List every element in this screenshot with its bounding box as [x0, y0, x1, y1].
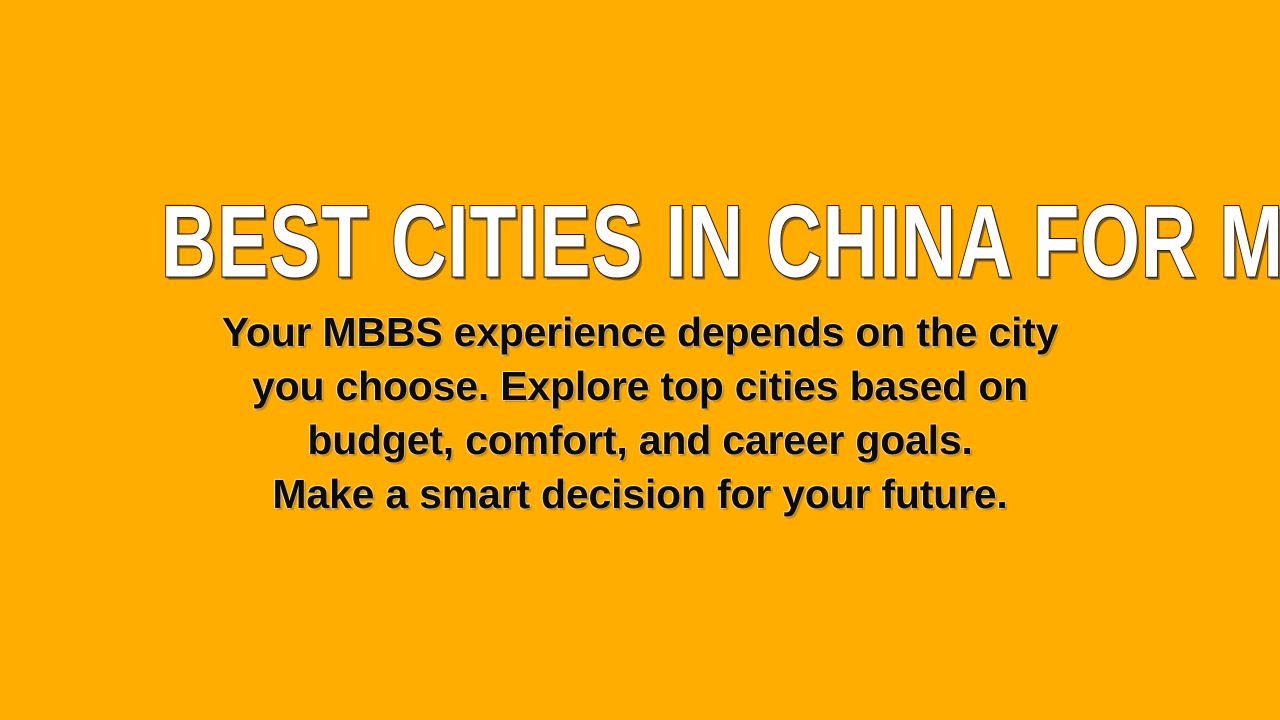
- page-title: BEST CITIES IN CHINA FOR MBBS: [161, 196, 1280, 290]
- subtitle-line-1: Your MBBS experience depends on the city: [0, 305, 1280, 359]
- subtitle-line-2: you choose. Explore top cities based on: [0, 359, 1280, 413]
- subtitle-line-4: Make a smart decision for your future.: [0, 467, 1280, 521]
- headline-container: BEST CITIES IN CHINA FOR MBBS: [0, 196, 1280, 284]
- subtitle-line-3: budget, comfort, and career goals.: [0, 413, 1280, 467]
- subtitle-container: Your MBBS experience depends on the city…: [0, 305, 1280, 521]
- slide-canvas: BEST CITIES IN CHINA FOR MBBS Your MBBS …: [0, 0, 1280, 720]
